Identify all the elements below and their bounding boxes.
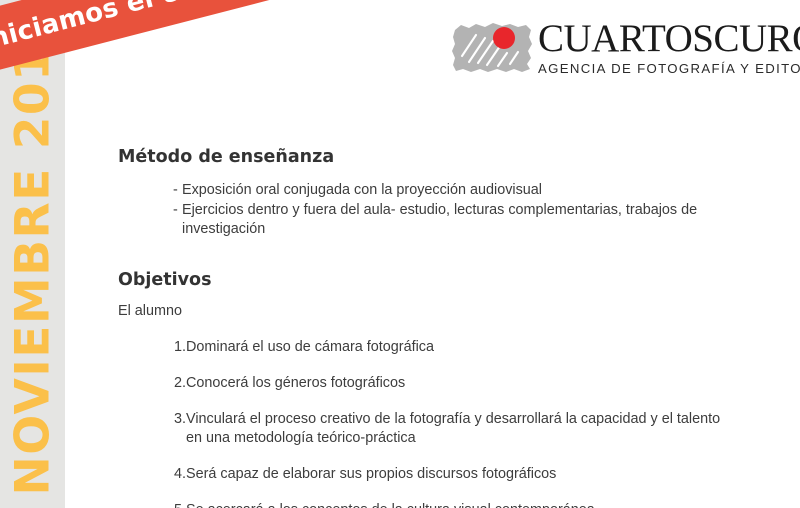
list-item: 2. Conocerá los géneros fotográficos	[118, 374, 738, 393]
logo-subtitle: AGENCIA DE FOTOGRAFÍA Y EDITORA	[538, 61, 800, 76]
method-list: - Exposición oral conjugada con la proye…	[118, 181, 738, 239]
objectives-heading: Objetivos	[118, 269, 738, 291]
list-item-number: 1.	[171, 338, 186, 357]
list-item: 4. Será capaz de elaborar sus propios di…	[118, 465, 738, 484]
list-item: 5. Se acercará a los conceptos de la cul…	[118, 501, 738, 508]
dash-marker: -	[173, 201, 178, 220]
start-date-ribbon-text: Iniciamos el 8 de noviembre	[0, 0, 390, 57]
red-dot-icon	[493, 27, 515, 49]
list-item-text: Será capaz de elaborar sus propios discu…	[186, 466, 556, 482]
list-item: - Ejercicios dentro y fuera del aula- es…	[118, 201, 738, 239]
list-item-text: Dominará el uso de cámara fotográfica	[186, 339, 434, 355]
list-item-text: Ejercicios dentro y fuera del aula- estu…	[182, 202, 697, 237]
cuartoscuro-logo: CUARTOSCURO AGENCIA DE FOTOGRAFÍA Y EDIT…	[452, 20, 782, 82]
logo-wordmark: CUARTOSCURO AGENCIA DE FOTOGRAFÍA Y EDIT…	[538, 18, 800, 76]
brush-mark-icon	[452, 22, 534, 74]
slide-content: Método de enseñanza - Exposición oral co…	[118, 146, 738, 508]
list-item-text: Se acercará a los conceptos de la cultur…	[186, 502, 595, 508]
list-item-number: 2.	[171, 374, 186, 393]
list-item-number: 3.	[171, 410, 186, 429]
sidebar-month-band: NOVIEMBRE 2013	[0, 0, 65, 508]
list-item: - Exposición oral conjugada con la proye…	[118, 181, 738, 200]
method-heading: Método de enseñanza	[118, 146, 738, 168]
list-item-number: 4.	[171, 465, 186, 484]
list-item-number: 5.	[171, 501, 186, 508]
objectives-lead: El alumno	[118, 302, 738, 321]
objectives-list: 1. Dominará el uso de cámara fotográfica…	[118, 338, 738, 508]
list-item: 3. Vinculará el proceso creativo de la f…	[118, 410, 738, 448]
slide-page: NOVIEMBRE 2013 Iniciamos el 8 de noviemb…	[0, 0, 800, 508]
sidebar-month-label: NOVIEMBRE 2013	[9, 12, 56, 495]
list-item-text: Conocerá los géneros fotográficos	[186, 375, 405, 391]
logo-title: CUARTOSCURO	[538, 18, 800, 60]
dash-marker: -	[173, 181, 178, 200]
list-item-text: Exposición oral conjugada con la proyecc…	[182, 182, 542, 198]
list-item-text: Vinculará el proceso creativo de la foto…	[186, 411, 720, 446]
list-item: 1. Dominará el uso de cámara fotográfica	[118, 338, 738, 357]
